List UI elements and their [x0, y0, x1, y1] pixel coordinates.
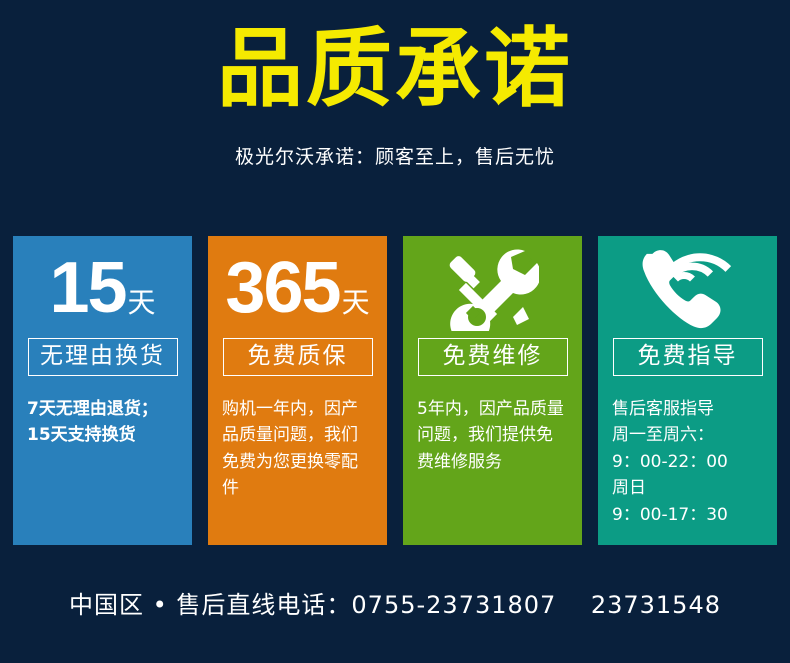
phone-ringing-icon — [612, 236, 763, 332]
footer-hotline: 中国区 • 售后直线电话：0755-23731807 23731548 — [0, 585, 790, 620]
card-headline-number: 365天 — [222, 236, 373, 332]
promise-card-list: 15天 无理由换货 7天无理由退货； 15天支持换货 365天 免费质保 购机一… — [13, 236, 777, 545]
promise-card-free-warranty[interactable]: 365天 免费质保 购机一年内，因产品质量问题，我们免费为您更换零配件 — [208, 236, 387, 545]
card-badge-label: 免费质保 — [223, 338, 373, 376]
wrench-screwdriver-icon — [417, 236, 568, 332]
promise-card-no-reason-exchange[interactable]: 15天 无理由换货 7天无理由退货； 15天支持换货 — [13, 236, 192, 545]
page-title: 品质承诺 — [0, 26, 790, 112]
quality-promise-banner: { "header": { "title": "品质承诺", "subtitle… — [0, 0, 790, 663]
headline-number-unit: 天 — [342, 286, 370, 319]
page-subtitle: 极光尔沃承诺：顾客至上，售后无忧 — [0, 112, 790, 169]
promise-card-free-guidance[interactable]: 免费指导 售后客服指导 周一至周六： 9：00-22：00 周日 9：00-17… — [598, 236, 777, 545]
card-description: 5年内，因产品质量问题，我们提供免费维修服务 — [417, 396, 568, 475]
card-badge-label: 免费维修 — [418, 338, 568, 376]
card-description: 售后客服指导 周一至周六： 9：00-22：00 周日 9：00-17：30 — [612, 396, 763, 528]
headline-number-value: 15 — [49, 248, 125, 328]
card-badge-label: 免费指导 — [613, 338, 763, 376]
headline-number-value: 365 — [225, 248, 339, 328]
card-badge-label: 无理由换货 — [28, 338, 178, 376]
card-headline-number: 15天 — [27, 236, 178, 332]
card-description: 购机一年内，因产品质量问题，我们免费为您更换零配件 — [222, 396, 373, 501]
banner-header: 品质承诺 极光尔沃承诺：顾客至上，售后无忧 — [0, 0, 790, 169]
promise-card-free-repair[interactable]: 免费维修 5年内，因产品质量问题，我们提供免费维修服务 — [403, 236, 582, 545]
card-description: 7天无理由退货； 15天支持换货 — [27, 396, 178, 449]
headline-number-unit: 天 — [128, 286, 156, 319]
